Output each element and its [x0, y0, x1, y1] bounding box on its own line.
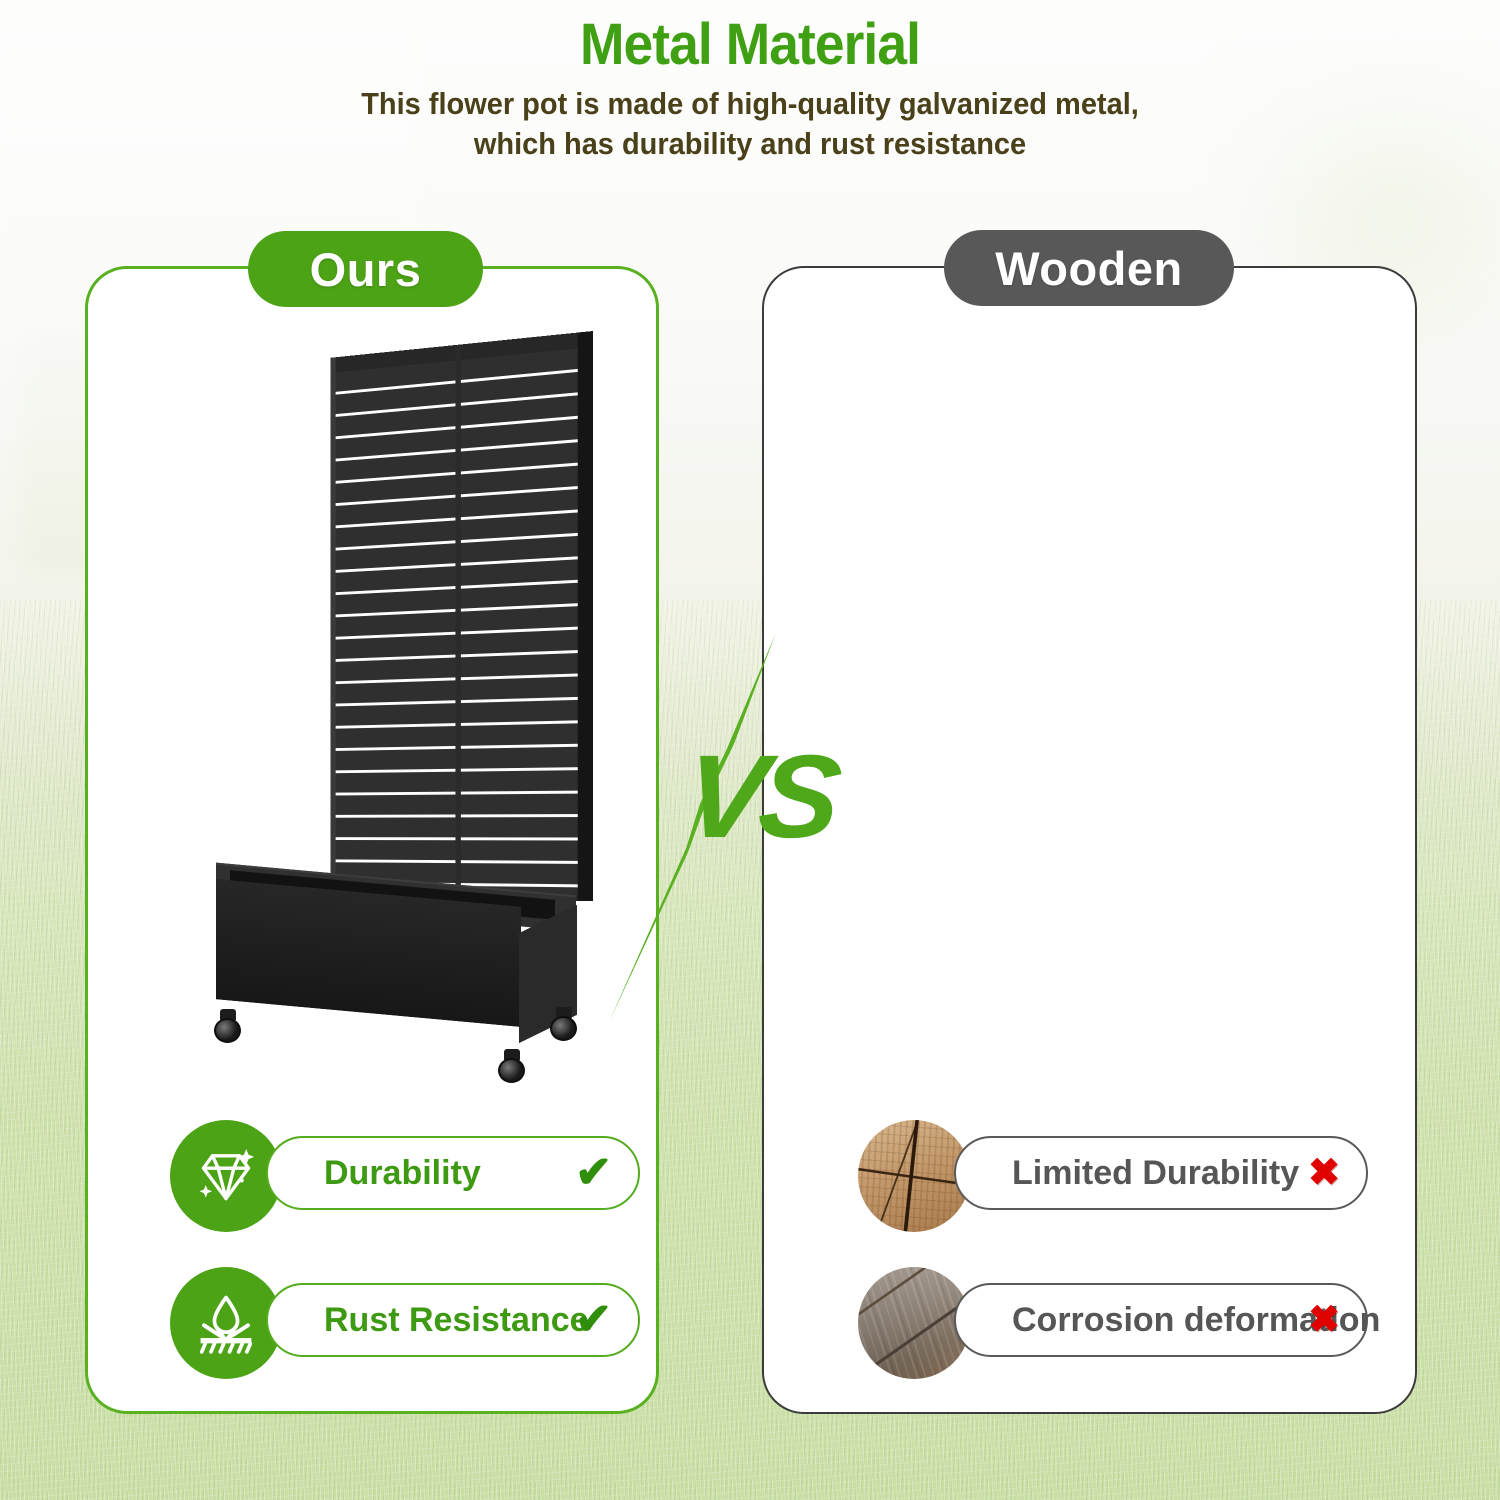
feature-row-durability: Durability ✔ — [170, 1120, 640, 1240]
feature-pill: Limited Durability ✖ — [954, 1136, 1368, 1210]
check-icon: ✔ — [575, 1298, 612, 1342]
feature-label: Rust Resistance — [324, 1301, 589, 1340]
subtitle-line-2: which has durability and rust resistance — [38, 125, 1463, 165]
subtitle-line-1: This flower pot is made of high-quality … — [361, 87, 1139, 121]
caster-wheel — [498, 1049, 526, 1083]
caster-wheel — [550, 1007, 578, 1041]
metal-planter-box — [216, 879, 591, 1024]
cross-icon: ✖ — [1308, 1154, 1340, 1192]
versus-mark: VS — [660, 618, 860, 1038]
header: Metal Material This flower pot is made o… — [0, 14, 1500, 165]
cross-icon: ✖ — [1308, 1301, 1340, 1339]
feature-row-limited-durability: Limited Durability ✖ — [858, 1120, 1368, 1240]
feature-row-rust-resistance: Rust Resistance ✔ — [170, 1267, 640, 1387]
versus-label: VS — [647, 738, 874, 856]
feature-row-corrosion-deformation: Corrosion deformation ✖ — [858, 1267, 1368, 1387]
ours-badge: Ours — [248, 231, 483, 307]
metal-louvered-trellis-panel — [331, 331, 593, 901]
page-title: Metal Material — [60, 14, 1440, 75]
caster-wheel — [214, 1009, 242, 1043]
feature-pill: Corrosion deformation ✖ — [954, 1283, 1368, 1357]
check-icon: ✔ — [575, 1151, 612, 1195]
feature-label: Durability — [324, 1154, 481, 1193]
ours-feature-list: Durability ✔ Rust Resistanc — [170, 1120, 640, 1414]
black-metal-planter-product-image — [198, 319, 648, 1119]
feature-pill: Rust Resistance ✔ — [266, 1283, 640, 1357]
wooden-feature-list: Limited Durability ✖ Corrosion deformati… — [858, 1120, 1368, 1414]
feature-label: Limited Durability — [1012, 1154, 1299, 1193]
wooden-badge: Wooden — [944, 230, 1234, 306]
page-subtitle: This flower pot is made of high-quality … — [38, 85, 1463, 164]
feature-pill: Durability ✔ — [266, 1136, 640, 1210]
